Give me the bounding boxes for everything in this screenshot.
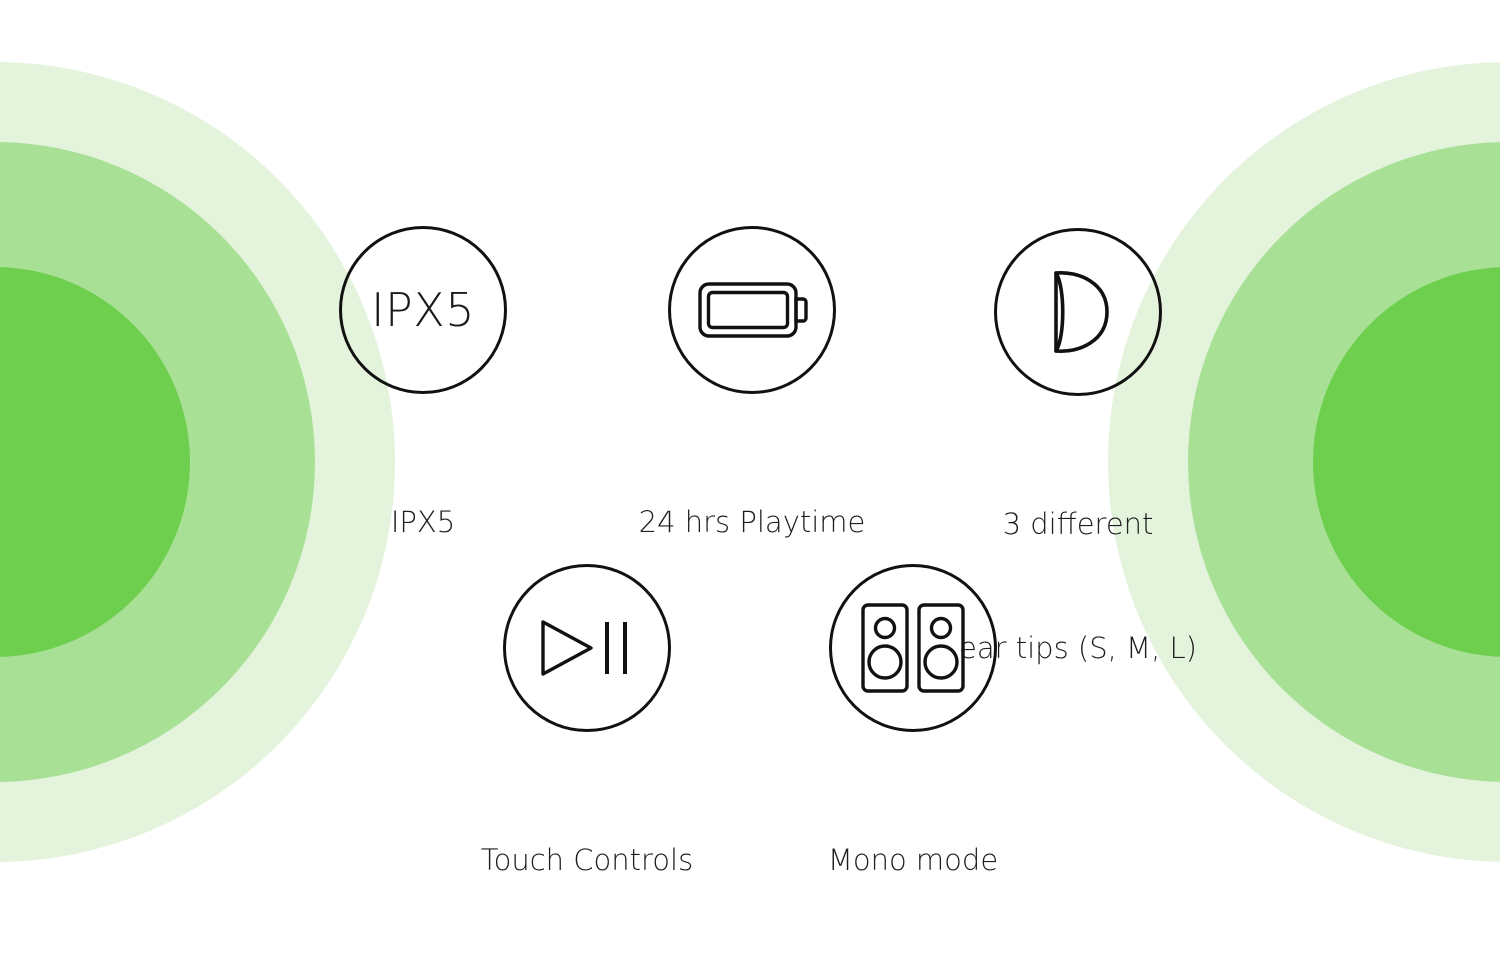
caption-line: 3 different [928, 504, 1228, 545]
ipx5-badge-label: IPX5 [371, 287, 475, 333]
stereo-speakers-icon [860, 602, 966, 694]
feature-touch-controls: Touch Controls [437, 564, 737, 954]
product-feature-infographic: IPX5 IPX5 24 hrs Playtime [0, 0, 1500, 954]
feature-touch-caption: Touch Controls [437, 758, 737, 954]
feature-mono-stereo: Mono mode Stereo mode [763, 564, 1063, 954]
play-pause-icon-frame [503, 564, 671, 732]
caption-line: 24 hrs Playtime [602, 502, 902, 543]
speaker-right [919, 605, 963, 691]
caption-line: Mono mode [763, 840, 1063, 881]
feature-grid: IPX5 IPX5 24 hrs Playtime [0, 0, 1500, 954]
caption-line: Touch Controls [437, 840, 737, 881]
speaker-left [863, 605, 907, 691]
ear-tip-icon-frame [994, 228, 1162, 396]
play-pause-icon [539, 618, 635, 678]
feature-mono-caption: Mono mode Stereo mode [763, 758, 1063, 954]
stereo-speakers-icon-frame [829, 564, 997, 732]
battery-icon [698, 280, 806, 340]
caption-line: IPX5 [273, 502, 573, 543]
ipx5-badge-icon: IPX5 [339, 226, 507, 394]
battery-icon-frame [668, 226, 836, 394]
ear-tip-icon [1045, 269, 1111, 355]
